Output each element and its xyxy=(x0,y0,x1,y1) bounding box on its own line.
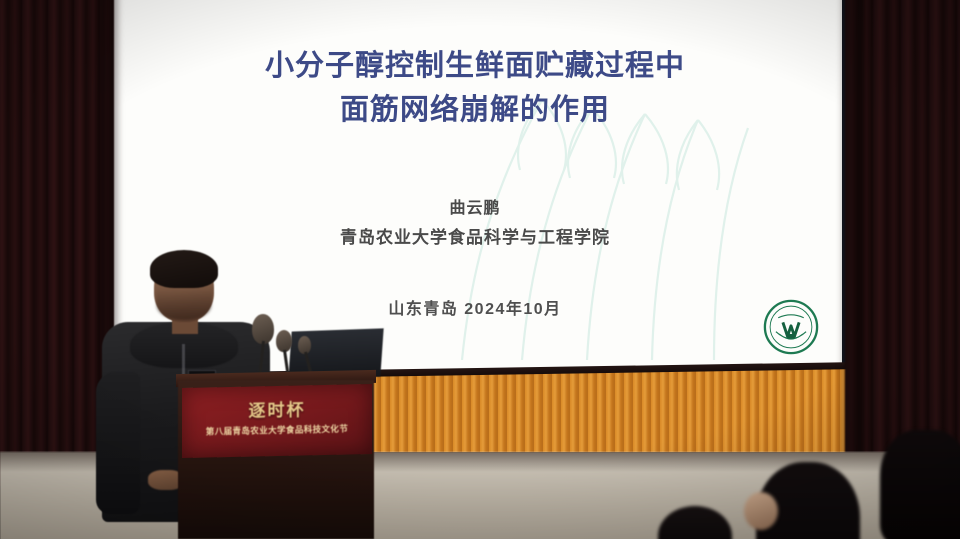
slide-title-line-1: 小分子醇控制生鲜面贮藏过程中 xyxy=(265,50,685,82)
presenter-face-shading xyxy=(156,288,212,320)
slide-presenter-block: 曲云鹏 青岛农业大学食品科学与工程学院 xyxy=(108,195,842,253)
slide-title-line-2: 面筋网络崩解的作用 xyxy=(108,88,842,132)
university-emblem-icon xyxy=(762,298,820,356)
audience-silhouette xyxy=(880,430,960,539)
audience-face xyxy=(744,492,778,530)
presenter-hair xyxy=(150,250,218,288)
photo-scene: 小分子醇控制生鲜面贮藏过程中 面筋网络崩解的作用 曲云鹏 青岛农业大学食品科学与… xyxy=(0,0,960,539)
stage-curtain-right-edge xyxy=(838,0,864,474)
presenter-organization: 青岛农业大学食品科学与工程学院 xyxy=(108,223,842,253)
presenter-arm xyxy=(96,372,140,514)
presenter-name: 曲云鹏 xyxy=(449,200,500,217)
podium-banner-title: 逐时杯 xyxy=(182,394,372,423)
podium-banner: 逐时杯 第八届青岛农业大学食品科技文化节 xyxy=(182,384,372,458)
podium-banner-subtitle: 第八届青岛农业大学食品科技文化节 xyxy=(182,422,372,438)
slide-title: 小分子醇控制生鲜面贮藏过程中 面筋网络崩解的作用 xyxy=(108,44,842,132)
